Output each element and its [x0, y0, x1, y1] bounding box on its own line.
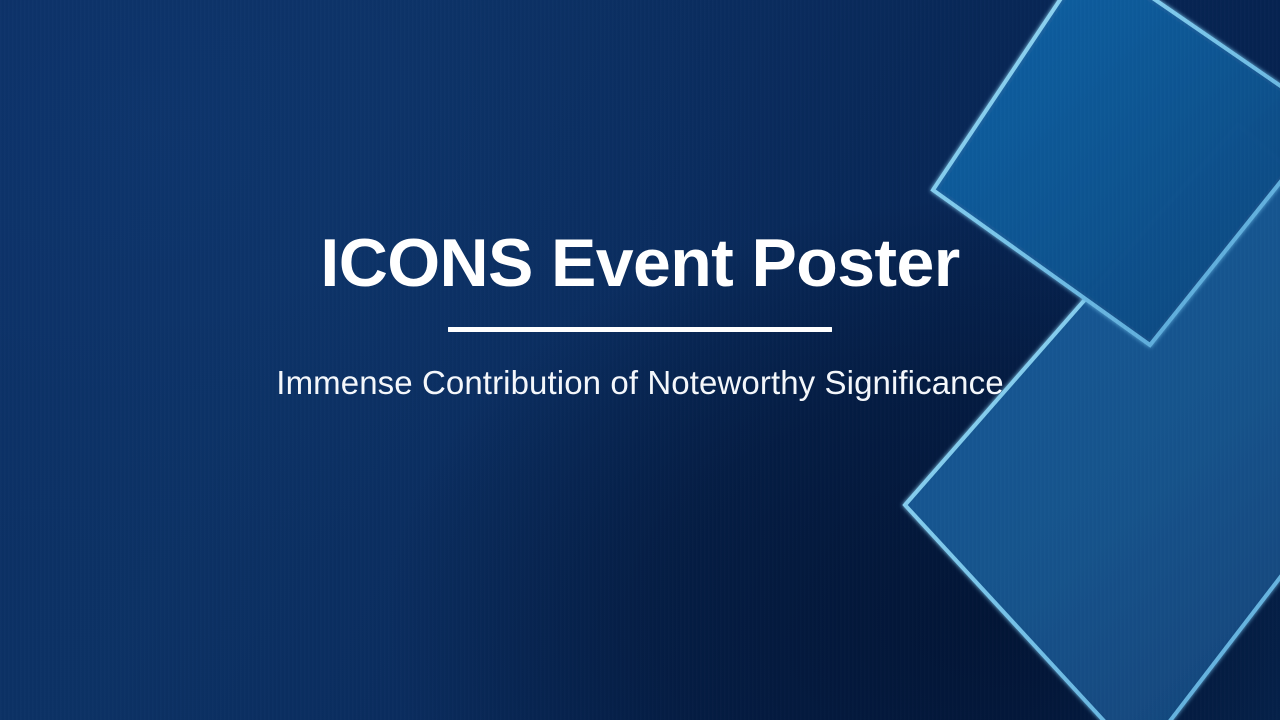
title-divider [448, 327, 832, 332]
title-block: ICONS Event Poster Immense Contribution … [276, 227, 1003, 404]
presentation-slide: ICONS Event Poster Immense Contribution … [0, 0, 1280, 720]
slide-content: ICONS Event Poster Immense Contribution … [0, 0, 1280, 720]
page-title: ICONS Event Poster [320, 227, 959, 300]
slide-subtitle: Immense Contribution of Noteworthy Signi… [276, 362, 1003, 403]
